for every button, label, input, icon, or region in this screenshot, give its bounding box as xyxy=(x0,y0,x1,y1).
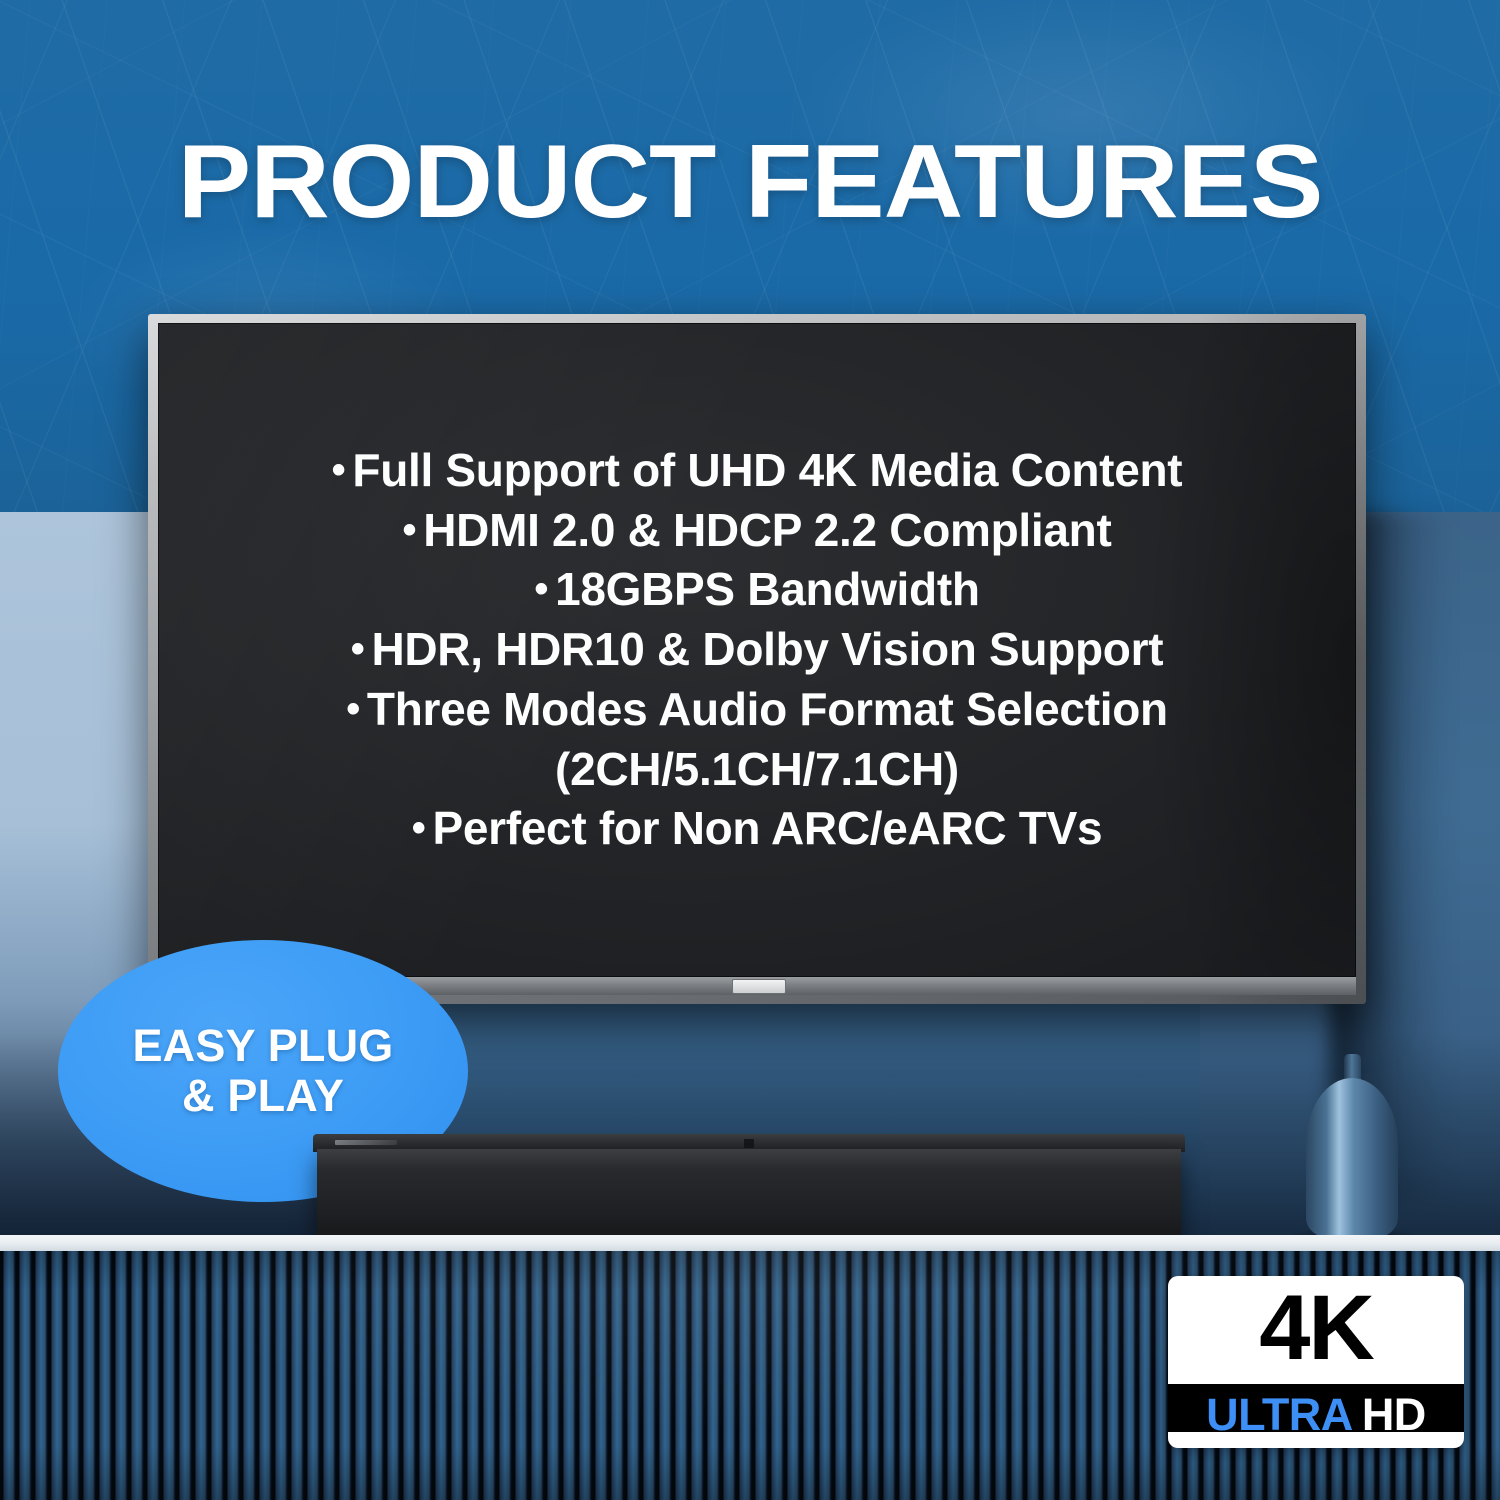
list-item: •Three Modes Audio Format Selection (2CH… xyxy=(346,680,1168,800)
soundbar-brand-mark xyxy=(335,1140,397,1145)
soundbar xyxy=(313,1134,1185,1239)
4k-ultra-hd-badge: 4K ULTRA HD xyxy=(1168,1276,1464,1448)
list-item: •18GBPS Bandwidth xyxy=(534,560,979,620)
television: •Full Support of UHD 4K Media Content •H… xyxy=(148,314,1366,1004)
product-feature-image: •Full Support of UHD 4K Media Content •H… xyxy=(0,0,1500,1500)
feature-text: Full Support of UHD 4K Media Content xyxy=(352,444,1182,496)
bullet-icon: • xyxy=(412,806,426,850)
feature-list: •Full Support of UHD 4K Media Content •H… xyxy=(158,323,1356,977)
soundbar-front-grille xyxy=(317,1149,1181,1239)
tv-brand-logo-plate xyxy=(732,979,786,994)
feature-text: HDMI 2.0 & HDCP 2.2 Compliant xyxy=(423,504,1111,556)
badge-line-2: & PLAY xyxy=(182,1071,344,1121)
bullet-icon: • xyxy=(346,687,360,731)
soundbar-ir-sensor xyxy=(744,1139,754,1148)
bullet-icon: • xyxy=(351,627,365,671)
badge-ultra-label: ULTRA xyxy=(1206,1392,1353,1437)
list-item: •HDR, HDR10 & Dolby Vision Support xyxy=(351,620,1163,680)
feature-text: 18GBPS Bandwidth xyxy=(555,563,980,615)
feature-text: Perfect for Non ARC/eARC TVs xyxy=(432,802,1102,854)
page-title: PRODUCT FEATURES xyxy=(0,130,1500,234)
badge-line-1: EASY PLUG xyxy=(132,1021,393,1071)
badge-4k-label: 4K xyxy=(1168,1276,1464,1384)
list-item: •HDMI 2.0 & HDCP 2.2 Compliant xyxy=(403,501,1112,561)
list-item: •Perfect for Non ARC/eARC TVs xyxy=(412,799,1102,859)
badge-bottom-strip xyxy=(1168,1432,1464,1448)
bullet-icon: • xyxy=(403,508,417,552)
decorative-vase xyxy=(1306,1040,1398,1240)
feature-text: HDR, HDR10 & Dolby Vision Support xyxy=(371,623,1163,675)
bullet-icon: • xyxy=(332,448,346,492)
list-item: •Full Support of UHD 4K Media Content xyxy=(332,441,1183,501)
badge-hd-label: HD xyxy=(1362,1392,1426,1437)
vase-body xyxy=(1306,1078,1398,1240)
bullet-icon: • xyxy=(534,567,548,611)
feature-text-secondary: (2CH/5.1CH/7.1CH) xyxy=(346,740,1168,800)
feature-text: Three Modes Audio Format Selection xyxy=(367,683,1168,735)
